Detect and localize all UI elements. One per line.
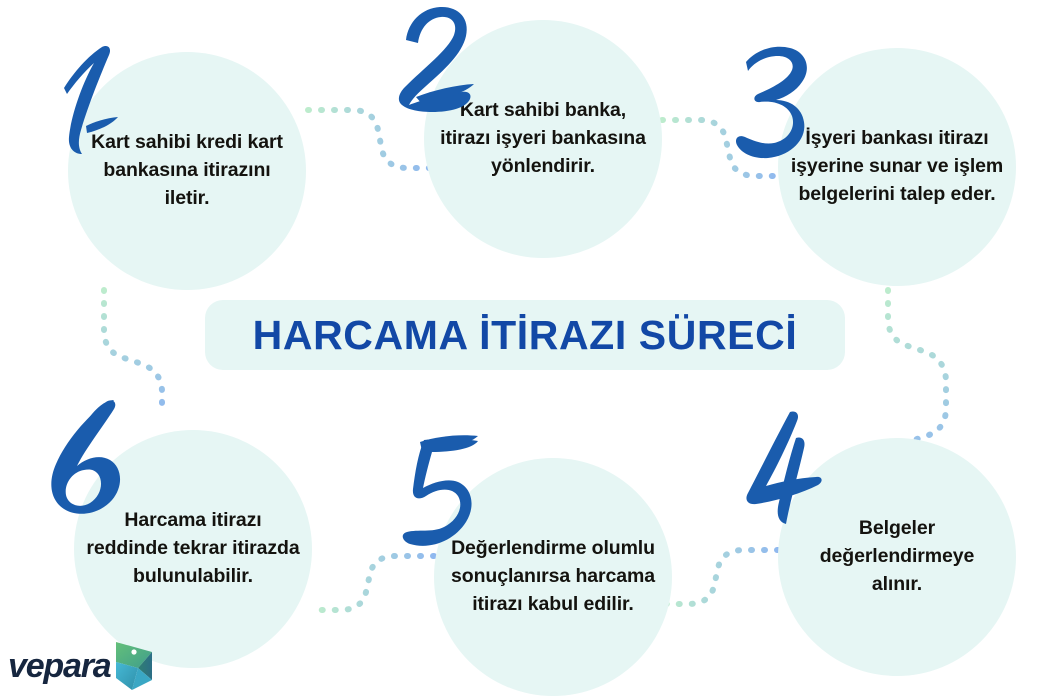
center-title-pill: HARCAMA İTİRAZI SÜRECİ bbox=[205, 300, 845, 370]
vepara-logo[interactable]: vepara bbox=[8, 638, 160, 694]
brush-number-one-icon bbox=[56, 44, 130, 162]
step-3-text: İşyeri bankası itirazı işyerine sunar ve… bbox=[790, 125, 1004, 208]
brush-number-two-icon bbox=[396, 4, 482, 124]
logo-wordmark: vepara bbox=[8, 649, 110, 683]
infographic-canvas: Kart sahibi kredi kart bankasına itirazı… bbox=[0, 0, 1050, 700]
connector-5-to-6 bbox=[316, 556, 434, 610]
brush-number-five-icon bbox=[400, 432, 484, 554]
connector-6-to-1 bbox=[104, 290, 162, 412]
brush-number-four-icon bbox=[744, 408, 828, 530]
page-title: HARCAMA İTİRAZI SÜRECİ bbox=[253, 312, 798, 359]
vepara-folded-arrow-mark-icon bbox=[112, 638, 160, 694]
brush-number-six-icon bbox=[44, 396, 128, 522]
brush-number-three-icon bbox=[734, 42, 820, 166]
connector-4-to-5 bbox=[664, 550, 778, 604]
